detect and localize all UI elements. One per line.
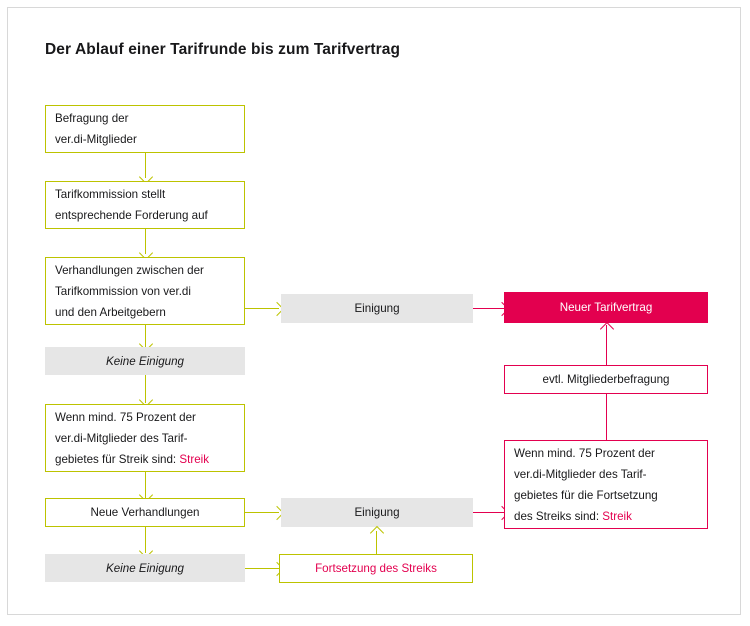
- page-title: Der Ablauf einer Tarifrunde bis zum Tari…: [45, 41, 400, 59]
- node-befragung-line1: Befragung der: [55, 108, 128, 129]
- node-keine-einigung-2: Keine Einigung: [45, 554, 245, 582]
- node-tarifkommission: Tarifkommission stellt entsprechende For…: [45, 181, 245, 229]
- node-mitgliederbefragung: evtl. Mitgliederbefragung: [504, 365, 708, 394]
- node-streik-links-line3-prefix: gebietes für Streik sind:: [55, 453, 179, 466]
- node-streik-links: Wenn mind. 75 Prozent der ver.di-Mitglie…: [45, 404, 245, 472]
- node-tarifkommission-line2: entsprechende Forderung auf: [55, 205, 208, 226]
- node-streik-links-line2: ver.di-Mitglieder des Tarif-: [55, 428, 188, 449]
- node-verhandlungen-line1: Verhandlungen zwischen der: [55, 260, 204, 281]
- node-streik-rechts-line3: gebietes für die Fortsetzung: [514, 485, 658, 506]
- node-einigung-oben-label: Einigung: [354, 298, 399, 319]
- node-fortsetzung-streik: Fortsetzung des Streiks: [279, 554, 473, 583]
- node-streik-rechts-line2: ver.di-Mitglieder des Tarif-: [514, 464, 647, 485]
- node-streik-rechts-line4: des Streiks sind: Streik: [514, 506, 632, 527]
- node-neuer-tarifvertrag-label: Neuer Tarifvertrag: [560, 297, 653, 318]
- node-einigung-unten: Einigung: [281, 498, 473, 527]
- node-streik-links-line3: gebietes für Streik sind: Streik: [55, 449, 209, 470]
- node-neue-verhandlungen: Neue Verhandlungen: [45, 498, 245, 527]
- node-mitgliederbefragung-label: evtl. Mitgliederbefragung: [543, 369, 670, 390]
- node-streik-rechts: Wenn mind. 75 Prozent der ver.di-Mitglie…: [504, 440, 708, 529]
- node-befragung-line2: ver.di-Mitglieder: [55, 129, 137, 150]
- node-streik-links-line3-accent: Streik: [179, 453, 209, 466]
- node-streik-links-line1: Wenn mind. 75 Prozent der: [55, 407, 196, 428]
- node-befragung: Befragung der ver.di-Mitglieder: [45, 105, 245, 153]
- node-tarifkommission-line1: Tarifkommission stellt: [55, 184, 165, 205]
- node-keine-einigung-2-label: Keine Einigung: [106, 558, 184, 579]
- node-streik-rechts-line4-accent: Streik: [602, 510, 632, 523]
- node-streik-rechts-line1: Wenn mind. 75 Prozent der: [514, 443, 655, 464]
- node-streik-rechts-line4-prefix: des Streiks sind:: [514, 510, 602, 523]
- node-einigung-unten-label: Einigung: [354, 502, 399, 523]
- node-verhandlungen-line2: Tarifkommission von ver.di: [55, 281, 191, 302]
- node-verhandlungen: Verhandlungen zwischen der Tarifkommissi…: [45, 257, 245, 325]
- node-keine-einigung-1-label: Keine Einigung: [106, 351, 184, 372]
- node-einigung-oben: Einigung: [281, 294, 473, 323]
- node-keine-einigung-1: Keine Einigung: [45, 347, 245, 375]
- node-neuer-tarifvertrag: Neuer Tarifvertrag: [504, 292, 708, 323]
- node-fortsetzung-streik-label: Fortsetzung des Streiks: [315, 558, 437, 579]
- node-neue-verhandlungen-label: Neue Verhandlungen: [91, 502, 200, 523]
- node-verhandlungen-line3: und den Arbeitgebern: [55, 302, 166, 323]
- flowchart-canvas: Der Ablauf einer Tarifrunde bis zum Tari…: [0, 0, 750, 626]
- connector-streik-rechts-to-mitgliederbefragung-line: [606, 394, 607, 440]
